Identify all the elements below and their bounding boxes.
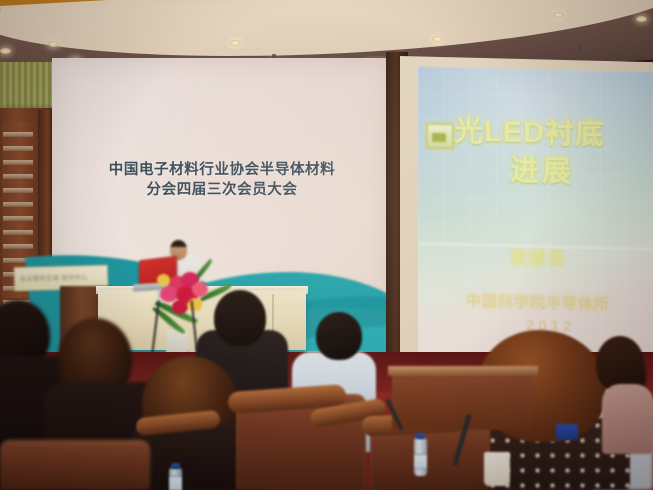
paper-cup — [484, 452, 510, 486]
downlight-icon — [230, 40, 241, 46]
projection-screen-surface: 光LED衬底 进展 梁骏吾 中国科学院半导体所 2012 — [418, 66, 653, 362]
downlight-icon — [553, 12, 564, 18]
bottle-label — [169, 476, 182, 490]
downlight-icon — [432, 36, 443, 42]
flower-petal — [157, 274, 170, 286]
audience-desk-top — [388, 366, 538, 376]
bottle-cap — [416, 433, 425, 439]
door-slat — [3, 216, 33, 221]
audience-person-body — [602, 384, 653, 454]
door-slat — [3, 132, 33, 137]
podium-sign-text: 会议服务区域·接待中心 — [20, 272, 103, 283]
slide-author: 梁骏吾 — [510, 244, 567, 270]
water-bottle — [169, 468, 182, 490]
slide-corner-logo-icon — [426, 123, 454, 150]
flower-petal — [172, 300, 188, 314]
auditorium-chair — [0, 440, 150, 490]
backdrop-title-line-2: 分会四届三次会员大会 — [52, 180, 392, 200]
conference-photograph: 中国电子材料行业协会半导体材料 分会四届三次会员大会 光LED衬底 进展 梁骏吾… — [0, 0, 653, 490]
audience-person-head — [316, 312, 362, 360]
lanyard-badge — [556, 424, 578, 440]
door-slat — [3, 160, 33, 165]
door-slat — [3, 188, 33, 193]
backdrop-title: 中国电子材料行业协会半导体材料 分会四届三次会员大会 — [52, 160, 392, 200]
door-slat — [3, 230, 33, 235]
bottle-cap — [171, 463, 180, 469]
audience-person-head — [214, 290, 266, 346]
slide-title-line-1: 光LED衬底 — [454, 115, 605, 151]
downlight-icon — [0, 48, 11, 54]
flower-arrangement — [148, 272, 224, 326]
door-slat — [3, 174, 33, 179]
flower-petal — [192, 282, 208, 297]
slide-title-line-2: 进展 — [510, 155, 574, 189]
door-slat — [3, 202, 33, 207]
audience-desk — [392, 372, 532, 430]
slide-affiliation: 中国科学院半导体所 — [466, 290, 610, 315]
backdrop-title-line-1: 中国电子材料行业协会半导体材料 — [52, 160, 392, 180]
door-slat — [3, 146, 33, 151]
downlight-icon — [48, 41, 59, 47]
sprinkler-icon — [578, 44, 582, 51]
downlight-icon — [636, 16, 647, 22]
door-slat — [3, 244, 33, 249]
bottle-label — [414, 454, 427, 469]
water-bottle — [414, 438, 427, 476]
